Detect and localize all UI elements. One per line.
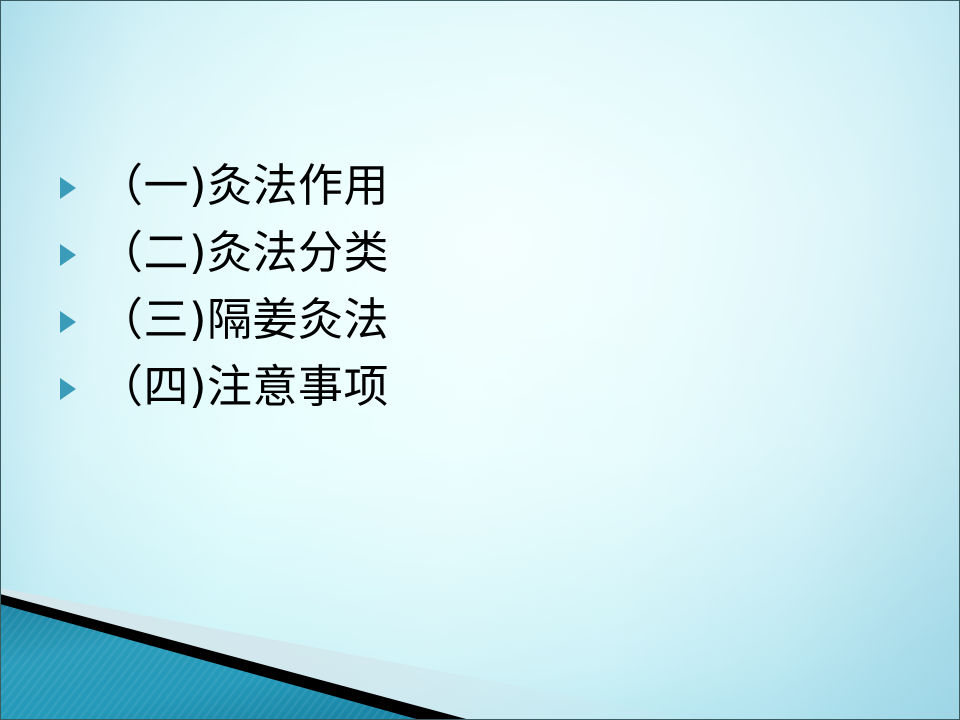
list-item[interactable]: （一)灸法作用 [0, 152, 620, 219]
triangle-right-icon [60, 173, 98, 199]
list-item-label: （四)注意事项 [98, 358, 620, 416]
list-item[interactable]: （三)隔姜灸法 [0, 286, 620, 353]
triangle-right-icon [60, 240, 98, 266]
list-item[interactable]: （四)注意事项 [0, 353, 620, 420]
bottom-left-diagonal-band [0, 580, 960, 720]
list-item-label: （三)隔姜灸法 [98, 291, 620, 349]
list-item-label: （二)灸法分类 [98, 224, 620, 282]
presentation-slide: （一)灸法作用 （二)灸法分类 （三)隔姜灸法 （四)注意事项 [0, 0, 960, 720]
bullet-list: （一)灸法作用 （二)灸法分类 （三)隔姜灸法 （四)注意事项 [0, 152, 620, 420]
triangle-right-icon [60, 307, 98, 333]
triangle-right-icon [60, 374, 98, 400]
list-item-label: （一)灸法作用 [98, 157, 620, 215]
list-item[interactable]: （二)灸法分类 [0, 219, 620, 286]
